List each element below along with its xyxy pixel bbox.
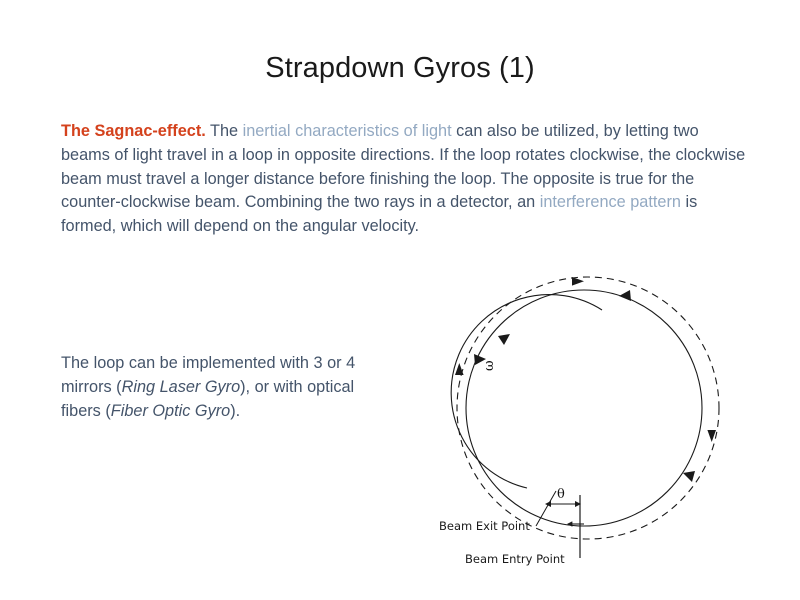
sagnac-text-segment-1: The	[206, 122, 243, 140]
outer-dashed-ring	[457, 277, 719, 539]
theta-label: θ	[557, 487, 565, 502]
middle-solid-ring	[466, 290, 702, 526]
inner-omega-arc	[451, 295, 602, 488]
accent-inertial-characteristics-of-light: inertial characteristics of light	[243, 122, 452, 140]
beam-exit-leader-line	[536, 491, 556, 526]
term-ring-laser-gyro: Ring Laser Gyro	[122, 378, 241, 396]
beam-exit-point-label: Beam Exit Point	[439, 519, 530, 533]
loop-text-segment-3: ).	[230, 402, 240, 420]
sagnac-effect-lead: The Sagnac-effect.	[61, 122, 206, 140]
page-title: Strapdown Gyros (1)	[0, 52, 800, 85]
paragraph-sagnac-effect: The Sagnac-effect. The inertial characte…	[61, 120, 751, 239]
term-fiber-optic-gyro: Fiber Optic Gyro	[111, 402, 230, 420]
omega-arc-arrowhead	[498, 334, 510, 345]
accent-interference-pattern: interference pattern	[540, 193, 681, 211]
sagnac-loop-diagram: ω θ Beam Exit Point Beam Entry Point	[432, 258, 777, 588]
beam-entry-point-label: Beam Entry Point	[465, 552, 565, 566]
omega-label: ω	[482, 360, 497, 371]
paragraph-loop-implementation: The loop can be implemented with 3 or 4 …	[61, 352, 391, 423]
